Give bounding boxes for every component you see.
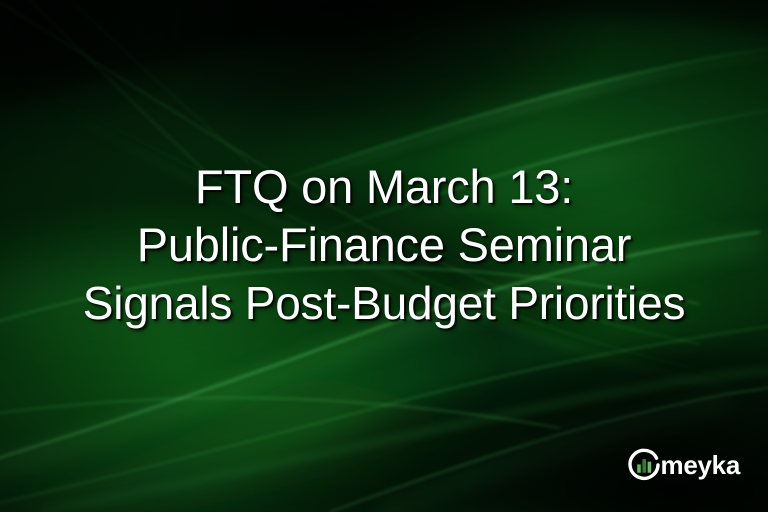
- article-banner: FTQ on March 13: Public-Finance Seminar …: [0, 0, 768, 512]
- headline-line-3: Signals Post-Budget Priorities: [83, 274, 686, 332]
- meyka-circle-bar-chart-logo-icon: [627, 448, 661, 482]
- headline-line-1: FTQ on March 13:: [195, 158, 573, 216]
- brand-logo[interactable]: meyka: [627, 448, 740, 482]
- headline-block: FTQ on March 13: Public-Finance Seminar …: [0, 0, 768, 512]
- headline-line-2: Public-Finance Seminar: [137, 216, 632, 274]
- brand-name-text: meyka: [661, 452, 740, 478]
